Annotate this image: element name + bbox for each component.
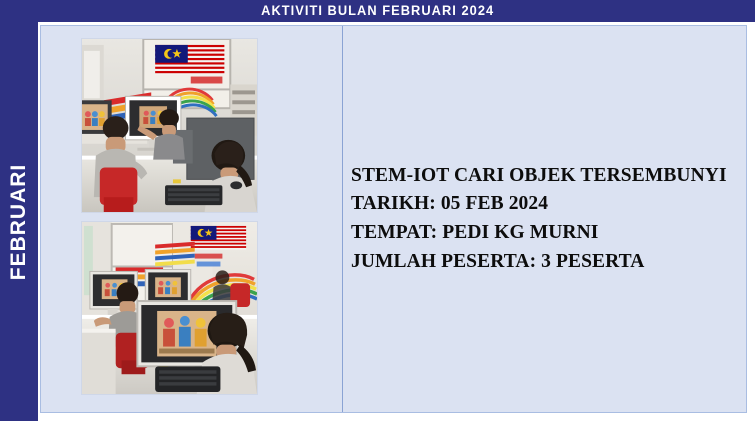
caption-block: STEM-IOT CARI OBJEK TERSEMBUNYI TARIKH: …: [343, 162, 746, 277]
month-tab-sidebar: FEBRUARI: [0, 22, 38, 421]
photo-computer-lab-top: [81, 38, 258, 213]
month-tab-label: FEBRUARI: [7, 163, 31, 280]
photo-column: [41, 26, 343, 412]
photo-computer-lab-top-image: [82, 39, 257, 212]
page-title: AKTIVITI BULAN FEBRUARI 2024: [261, 4, 494, 18]
title-bar: AKTIVITI BULAN FEBRUARI 2024: [0, 0, 755, 22]
caption-title: STEM-IOT CARI OBJEK TERSEMBUNYI: [351, 162, 736, 191]
photo-computer-lab-bottom-image: [82, 222, 257, 394]
slide-root: AKTIVITI BULAN FEBRUARI 2024 FEBRUARI: [0, 0, 755, 421]
caption-venue: TEMPAT: PEDI KG MURNI: [351, 219, 736, 248]
caption-date: TARIKH: 05 FEB 2024: [351, 190, 736, 219]
content-panel: STEM-IOT CARI OBJEK TERSEMBUNYI TARIKH: …: [40, 25, 747, 413]
caption-column: STEM-IOT CARI OBJEK TERSEMBUNYI TARIKH: …: [343, 26, 746, 412]
photo-computer-lab-bottom: [81, 221, 258, 395]
caption-participants: JUMLAH PESERTA: 3 PESERTA: [351, 248, 736, 277]
